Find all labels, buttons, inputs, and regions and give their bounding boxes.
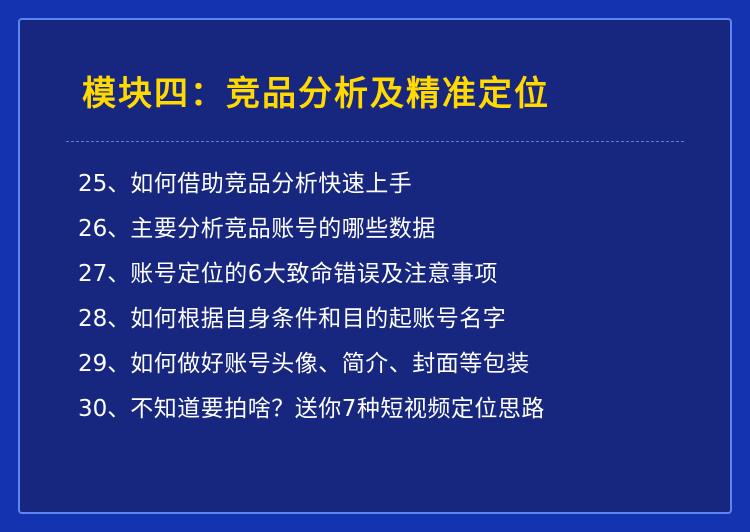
- poster-content: 模块四：竞品分析及精准定位 25、 如何借助竞品分析快速上手 26、 主要分析竞…: [20, 20, 730, 512]
- list-item-label: 如何做好账号头像、简介、封面等包装: [130, 353, 530, 376]
- list-item-label: 主要分析竞品账号的哪些数据: [130, 218, 436, 241]
- list-item: 29、 如何做好账号头像、简介、封面等包装: [78, 342, 690, 387]
- list-item-number: 27、: [78, 263, 130, 286]
- list-item-number: 28、: [78, 308, 130, 331]
- list-item-label: 不知道要拍啥？送你7种短视频定位思路: [130, 398, 545, 421]
- dashed-divider: [66, 141, 684, 142]
- poster-inner-frame: 模块四：竞品分析及精准定位 25、 如何借助竞品分析快速上手 26、 主要分析竞…: [18, 18, 732, 514]
- list-item-number: 26、: [78, 218, 130, 241]
- list-item-number: 30、: [78, 398, 130, 421]
- list-item: 30、 不知道要拍啥？送你7种短视频定位思路: [78, 387, 690, 432]
- list-item: 25、 如何借助竞品分析快速上手: [78, 162, 690, 207]
- list-item-label: 如何根据自身条件和目的起账号名字: [130, 308, 506, 331]
- list-item-label: 如何借助竞品分析快速上手: [130, 173, 412, 196]
- course-item-list: 25、 如何借助竞品分析快速上手 26、 主要分析竞品账号的哪些数据 27、 账…: [60, 162, 690, 432]
- module-title: 模块四：竞品分析及精准定位: [60, 76, 690, 113]
- list-item-number: 29、: [78, 353, 130, 376]
- list-item-label: 账号定位的6大致命错误及注意事项: [130, 263, 498, 286]
- poster-root: 模块四：竞品分析及精准定位 25、 如何借助竞品分析快速上手 26、 主要分析竞…: [0, 0, 750, 532]
- list-item: 26、 主要分析竞品账号的哪些数据: [78, 207, 690, 252]
- list-item-number: 25、: [78, 173, 130, 196]
- list-item: 28、 如何根据自身条件和目的起账号名字: [78, 297, 690, 342]
- list-item: 27、 账号定位的6大致命错误及注意事项: [78, 252, 690, 297]
